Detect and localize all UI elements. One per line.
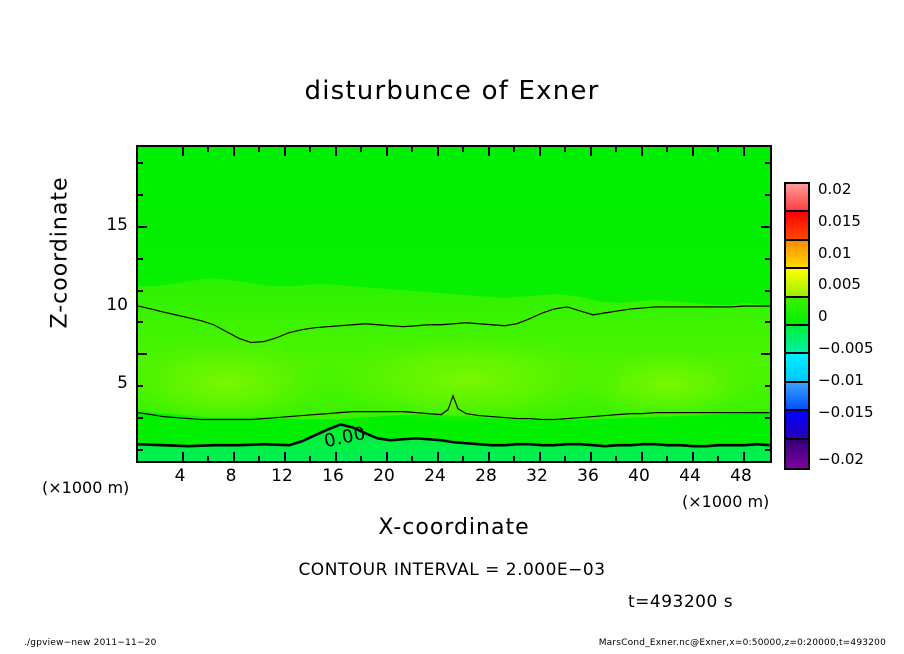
x-tick-bottom [641,452,643,461]
x-tick-bottom-minor [411,456,413,461]
x-tick-bottom [488,452,490,461]
x-tick-label: 8 [209,466,253,486]
colorbar-band [786,212,808,240]
x-tick-top-minor [615,147,617,152]
x-tick-label: 12 [260,466,304,486]
y-tick-right-minor [765,417,770,419]
y-tick-right-minor [765,449,770,451]
x-tick-bottom-minor [513,456,515,461]
x-tick-label: 24 [413,466,457,486]
colorbar-band [786,326,808,354]
x-tick-bottom [386,452,388,461]
x-tick-top [539,147,541,156]
colorbar-band [786,241,808,269]
x-tick-label: 28 [464,466,508,486]
colorbar-band [786,383,808,411]
x-tick-bottom-minor [462,456,464,461]
x-tick-label: 36 [566,466,610,486]
x-tick-bottom-minor [564,456,566,461]
y-tick-right-minor [765,385,770,387]
y-axis-title: Z-coordinate [48,153,73,353]
x-tick-label: 20 [362,466,406,486]
time-label: t=493200 s [628,592,733,612]
contour-interval-label: CONTOUR INTERVAL = 2.000E−03 [0,560,904,580]
x-tick-top-minor [360,147,362,152]
colorbar-band [786,411,808,439]
x-tick-top-minor [411,147,413,152]
y-tick-label: 5 [94,373,128,393]
x-tick-bottom [233,452,235,461]
colorbar [784,182,810,470]
y-tick-left-minor [138,290,143,292]
y-tick-left-minor [138,162,143,164]
x-tick-top-minor [207,147,209,152]
y-tick-right-minor [765,321,770,323]
x-tick-bottom [182,452,184,461]
colorbar-band [786,440,808,468]
x-tick-top [743,147,745,156]
x-tick-top-minor [309,147,311,152]
y-tick-right-minor [765,194,770,196]
colorbar-tick-label: −0.01 [818,371,864,389]
colorbar-band [786,184,808,212]
x-tick-top-minor [258,147,260,152]
y-tick-left-minor [138,194,143,196]
x-tick-bottom [335,452,337,461]
plot-area: 0.00 [136,145,772,463]
colorbar-tick-label: −0.02 [818,450,864,468]
x-tick-label: 4 [158,466,202,486]
page-title: disturbunce of Exner [0,76,904,106]
y-tick-left-minor [138,385,143,387]
y-tick-right-minor [765,258,770,260]
x-tick-top-minor [564,147,566,152]
y-tick-label: 10 [94,295,128,315]
y-tick-right-minor [765,290,770,292]
colorbar-band [786,354,808,382]
colorbar-tick-label: 0.01 [818,244,851,262]
x-tick-bottom-minor [360,456,362,461]
x-tick-bottom [590,452,592,461]
y-tick-left-minor [138,321,143,323]
contour-plot-canvas [138,147,770,461]
x-axis-title: X-coordinate [136,515,772,540]
lobe-right [579,350,758,419]
colorbar-tick-label: 0.015 [818,212,861,230]
x-tick-top [692,147,694,156]
x-tick-label: 44 [668,466,712,486]
x-tick-top [488,147,490,156]
x-tick-top-minor [462,147,464,152]
x-tick-top [182,147,184,156]
x-tick-top [641,147,643,156]
y-tick-right [761,353,770,355]
x-tick-top [284,147,286,156]
x-tick-bottom-minor [258,456,260,461]
x-tick-top [386,147,388,156]
x-tick-bottom [743,452,745,461]
y-tick-label: 15 [94,215,128,235]
x-tick-top-minor [666,147,668,152]
colorbar-band [786,298,808,326]
y-tick-left-minor [138,417,143,419]
x-tick-bottom [437,452,439,461]
x-tick-top-minor [513,147,515,152]
y-tick-right-minor [765,162,770,164]
x-tick-label: 16 [311,466,355,486]
y-tick-right [761,226,770,228]
y-tick-left [138,353,147,355]
colorbar-tick-label: −0.015 [818,403,874,421]
colorbar-tick-label: −0.005 [818,339,874,357]
colorbar-tick-label: 0.02 [818,180,851,198]
x-tick-bottom [692,452,694,461]
footer-command: ./gpview−new 2011−11−20 [24,638,157,648]
footer-source: MarsCond_Exner.nc@Exner,x=0:50000,z=0:20… [599,638,886,648]
x-unit-right-label: (×1000 m) [682,492,769,511]
colorbar-tick-label: 0.005 [818,275,861,293]
colorbar-band [786,269,808,297]
x-tick-bottom [284,452,286,461]
y-tick-left [138,226,147,228]
x-tick-bottom-minor [207,456,209,461]
x-tick-bottom-minor [309,456,311,461]
x-tick-top [590,147,592,156]
x-tick-bottom-minor [666,456,668,461]
x-tick-label: 40 [617,466,661,486]
y-tick-left-minor [138,449,143,451]
x-tick-bottom-minor [717,456,719,461]
x-tick-top-minor [717,147,719,152]
x-tick-top [233,147,235,156]
x-tick-top [335,147,337,156]
x-unit-left-label: (×1000 m) [42,478,129,497]
x-tick-label: 48 [719,466,763,486]
x-tick-label: 32 [515,466,559,486]
x-tick-bottom-minor [615,456,617,461]
x-tick-bottom [539,452,541,461]
y-tick-left-minor [138,258,143,260]
x-tick-top [437,147,439,156]
colorbar-tick-label: 0 [818,307,828,325]
